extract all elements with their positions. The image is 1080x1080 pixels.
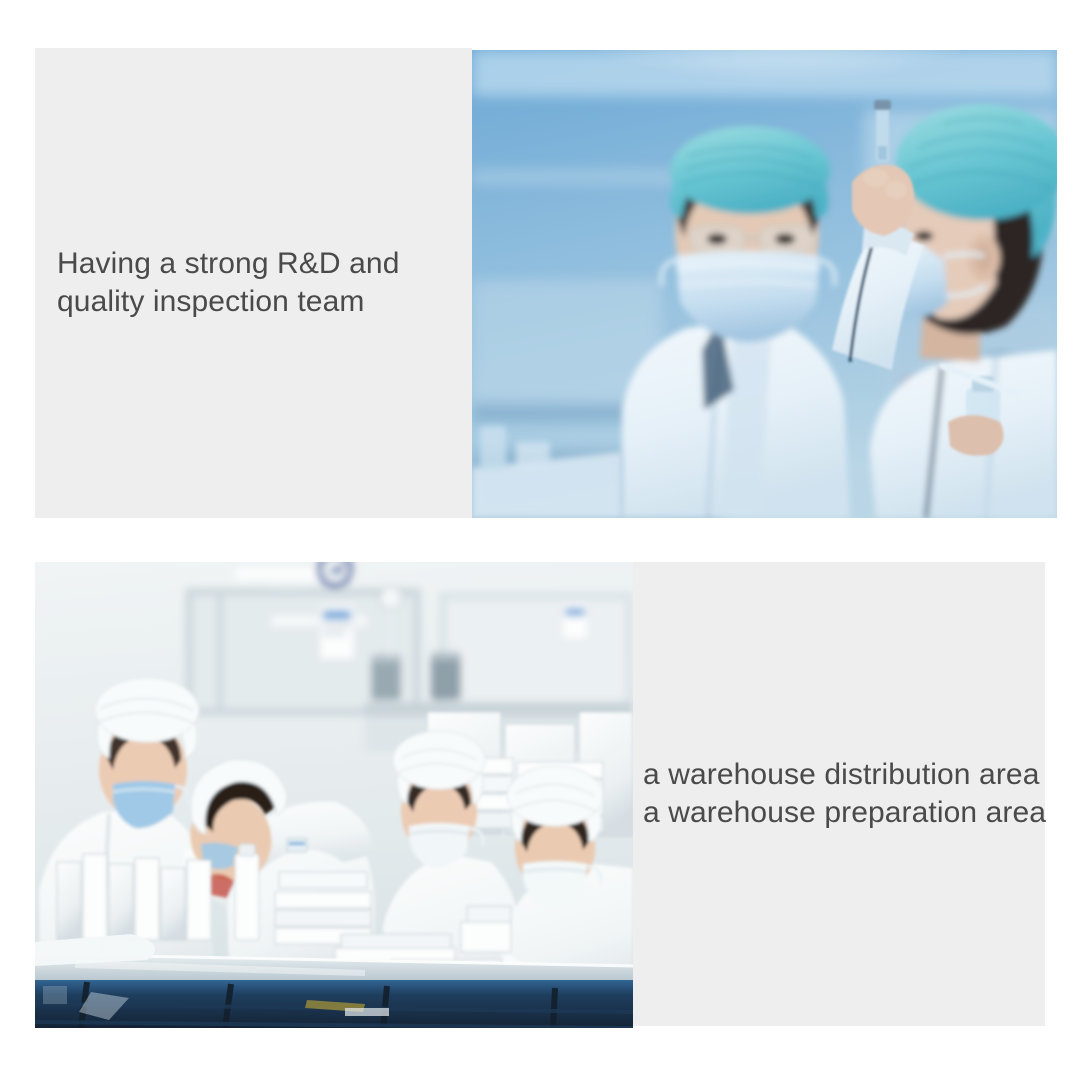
rd-caption-panel: Having a strong R&D and quality inspecti… [35,48,472,518]
page-root: Having a strong R&D and quality inspecti… [0,0,1080,1080]
lab-photo-artwork [472,50,1057,518]
rd-caption-text: Having a strong R&D and quality inspecti… [35,245,399,321]
packaging-photo-artwork [35,562,633,1028]
warehouse-caption-line-1: a warehouse distribution area [643,756,1046,794]
lab-technicians-photo [472,50,1057,518]
rd-caption-line-1: Having a strong R&D and [57,245,399,283]
rd-caption-line-2: quality inspection team [57,283,399,321]
packaging-workers-photo [35,562,633,1028]
warehouse-caption-text: a warehouse distribution area a warehous… [633,756,1046,832]
warehouse-caption-line-2: a warehouse preparation area [643,794,1046,832]
warehouse-caption-panel: a warehouse distribution area a warehous… [633,562,1045,1026]
